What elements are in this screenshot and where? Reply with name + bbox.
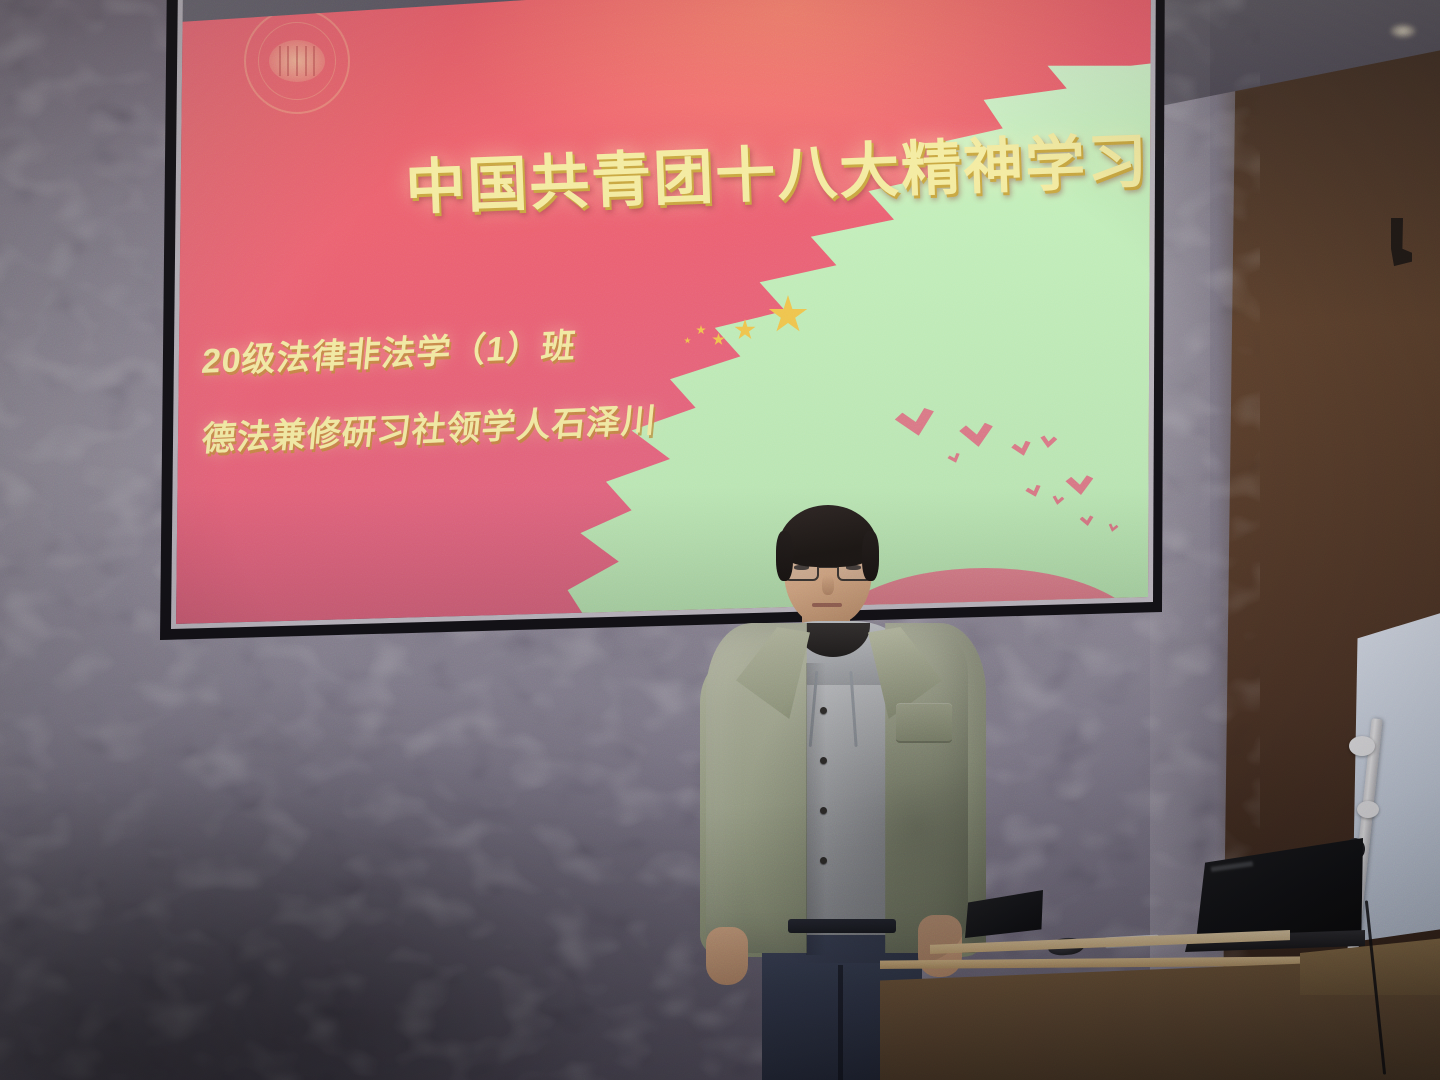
jacket-chest-pocket — [896, 703, 952, 743]
jacket-button — [820, 857, 827, 864]
seal-core — [269, 40, 325, 82]
presentation-photo-scene: 中国共青团十八大精神学习 20级法律非法学（1）班 德法兼修研习社领学人石泽川 — [0, 0, 1440, 1080]
presenter-mouth — [812, 603, 842, 607]
presenter-hand-left — [706, 927, 748, 985]
mic-stand-knob-lower — [1357, 801, 1379, 818]
university-seal-icon — [244, 8, 350, 114]
slide-subtitle-presenter: 德法兼修研习社领学人石泽川 — [200, 392, 659, 460]
jacket-button — [820, 757, 827, 764]
presenter-hair-side-right — [862, 531, 879, 581]
mic-stand-knob-upper — [1349, 736, 1375, 756]
jacket-button — [820, 707, 827, 714]
slide-subtitle-class: 20级法律非法学（1）班 — [200, 318, 579, 383]
presenter-belt — [788, 919, 896, 933]
presenter-hair-side-left — [776, 531, 793, 581]
star-cluster-icon — [690, 285, 840, 365]
slide-content: 中国共青团十八大精神学习 20级法律非法学（1）班 德法兼修研习社领学人石泽川 — [150, 0, 1180, 640]
presenter-pants-seam — [838, 965, 843, 1080]
projection-screen: 中国共青团十八大精神学习 20级法律非法学（1）班 德法兼修研习社领学人石泽川 — [0, 0, 1240, 700]
jacket-button — [820, 807, 827, 814]
ceiling-light-icon — [1390, 24, 1416, 38]
projection-screen-surface: 中国共青团十八大精神学习 20级法律非法学（1）班 德法兼修研习社领学人石泽川 — [150, 0, 1180, 640]
